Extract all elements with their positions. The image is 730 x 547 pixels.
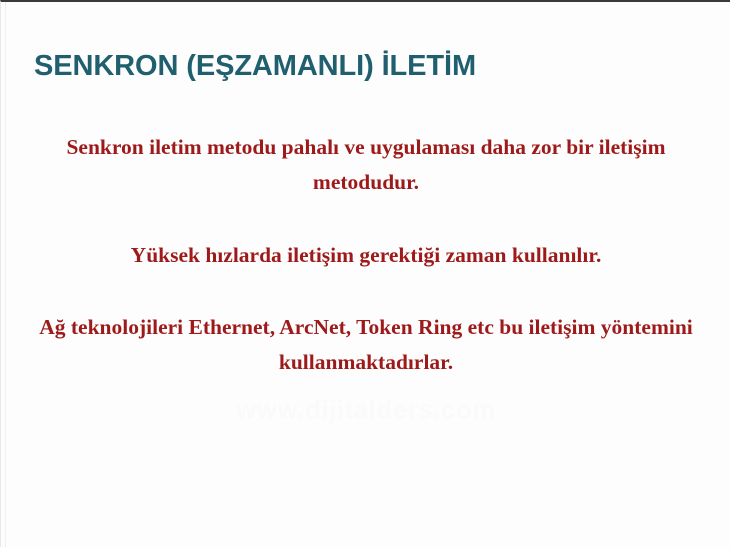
body-paragraph-3: Ağ teknolojileri Ethernet, ArcNet, Token… <box>31 310 701 380</box>
page-title: SENKRON (EŞZAMANLI) İLETİM <box>34 52 694 81</box>
slide-body: Senkron iletim metodu pahalı ve uygulama… <box>31 130 701 380</box>
presentation-slide: SENKRON (EŞZAMANLI) İLETİM Senkron ileti… <box>0 0 730 547</box>
body-paragraph-1: Senkron iletim metodu pahalı ve uygulama… <box>31 130 701 200</box>
slide-edge-artifact <box>5 2 6 547</box>
body-paragraph-2: Yüksek hızlarda iletişim gerektiği zaman… <box>31 238 701 273</box>
site-watermark: www.dijitalders.com <box>1 394 730 425</box>
